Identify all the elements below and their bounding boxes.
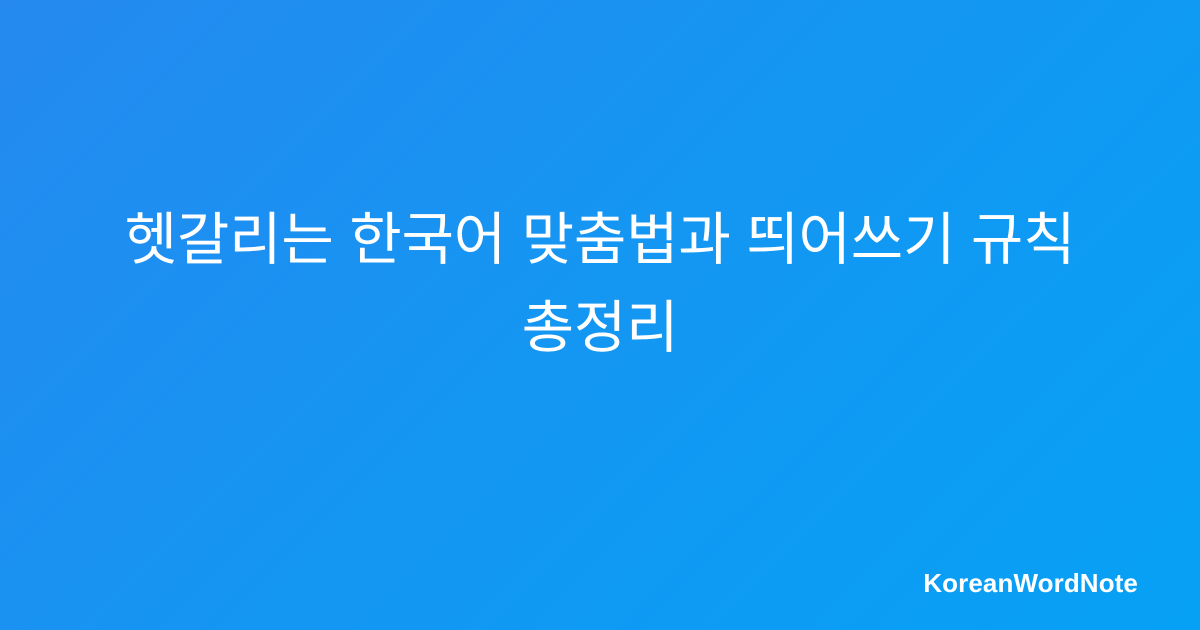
page-title: 헷갈리는 한국어 맞춤법과 띄어쓰기 규칙 총정리 bbox=[92, 196, 1108, 372]
headline-container: 헷갈리는 한국어 맞춤법과 띄어쓰기 규칙 총정리 bbox=[0, 0, 1200, 630]
site-watermark: KoreanWordNote bbox=[923, 570, 1138, 596]
og-card: 헷갈리는 한국어 맞춤법과 띄어쓰기 규칙 총정리 KoreanWordNote bbox=[0, 0, 1200, 630]
